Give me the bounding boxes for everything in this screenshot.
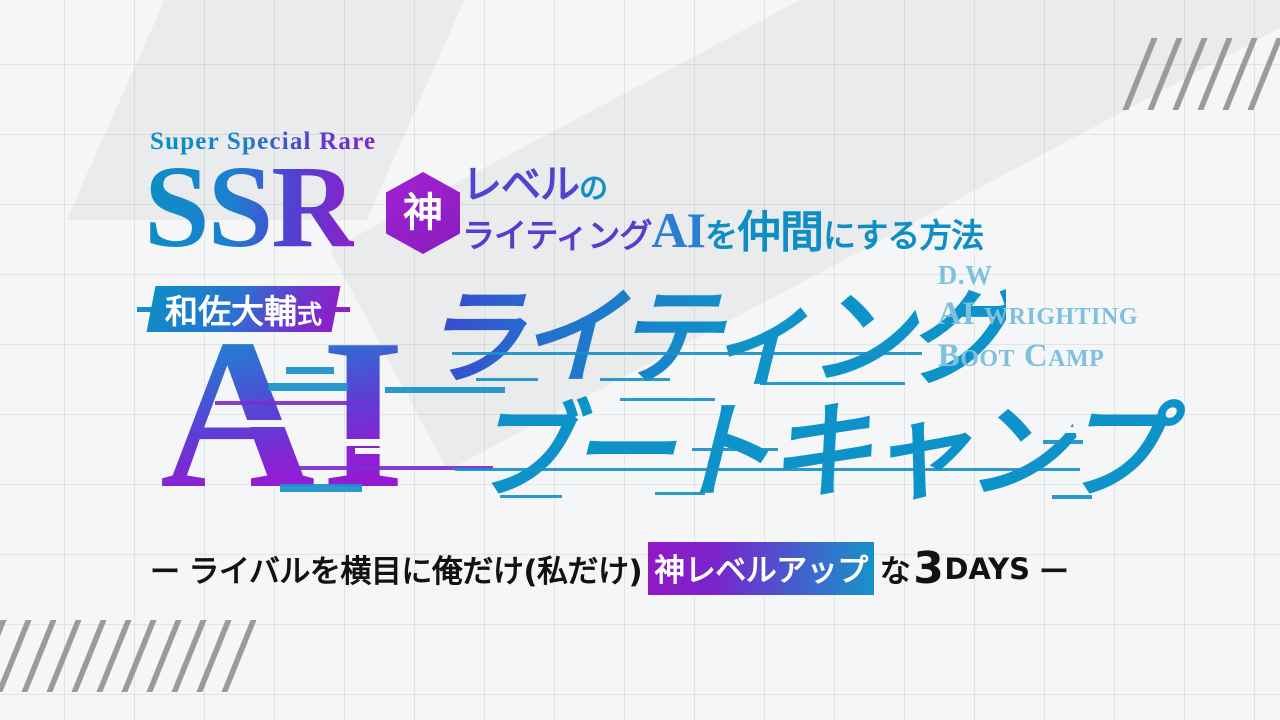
poster-canvas: Super Special Rare SSR 神 レベルの ライティングAIを仲… <box>0 0 1280 720</box>
dw-row-3-amp: AMP <box>1048 346 1104 372</box>
brush-headline-line-1: ライティング <box>420 286 1006 391</box>
kami-hexagon-badge: 神 <box>386 172 460 254</box>
tagline-part-2: な <box>880 546 911 591</box>
tagline-day-count: 3 <box>913 549 943 589</box>
dw-bootcamp-lockup: D.W AI WRIGHTING BOOT CAMP <box>938 258 1138 377</box>
scan-line <box>476 378 538 381</box>
glitch-line <box>330 439 400 446</box>
glitch-line <box>286 367 334 374</box>
dw-row-3-oot: OOT <box>960 346 1015 372</box>
scan-line <box>1052 495 1092 499</box>
glitch-line <box>215 401 365 405</box>
giant-ai-letters: AI <box>160 330 411 498</box>
lead-line-2-method: にする方法 <box>823 216 983 255</box>
scan-line <box>655 492 705 495</box>
scan-line <box>760 382 905 385</box>
scan-line <box>600 378 670 381</box>
lead-line-2-ai: AI <box>651 202 705 258</box>
scan-line <box>455 468 1080 471</box>
dw-row-3-b: B <box>938 338 961 374</box>
brush-headline-line-2: ブートキャンプ <box>470 400 1160 505</box>
decorative-stripes-bottom-left <box>0 620 242 692</box>
lead-line-2-wo: を <box>705 216 737 255</box>
glitch-line <box>280 484 362 492</box>
scan-line <box>692 448 778 451</box>
tagline-days-label: DAYS <box>944 552 1030 586</box>
bottom-tagline: ー ライバルを横目に俺だけ(私だけ) 神レベルアップ な 3 DAYS ー <box>150 542 1068 595</box>
tagline-dash-left: ー <box>150 547 180 591</box>
scan-line <box>452 352 922 355</box>
dw-row-2: AI WRIGHTING <box>938 293 1138 335</box>
lead-line-2-writing: ライティング <box>462 216 651 255</box>
dw-row-3-c: C <box>1024 338 1048 374</box>
tagline-dash-right: ー <box>1039 547 1069 591</box>
glitch-line <box>245 420 295 427</box>
dw-row-1: D.W <box>938 258 1138 293</box>
glitch-line <box>268 383 348 391</box>
lead-line-2: ライティングAIを仲間にする方法 <box>462 196 983 260</box>
scan-line <box>500 495 562 498</box>
decorative-stripes-top-right <box>1137 38 1268 110</box>
scan-line <box>1062 427 1094 433</box>
hexagon-badge-label: 神 <box>386 172 460 254</box>
dw-row-3: BOOT CAMP <box>938 335 1138 377</box>
tagline-part-1: ライバルを横目に俺だけ(私だけ) <box>189 546 643 591</box>
scan-line <box>1043 440 1083 444</box>
rank-initials: SSR <box>144 148 354 266</box>
tagline-highlight: 神レベルアップ <box>648 542 874 595</box>
glitch-line <box>355 448 395 454</box>
dw-row-2-ai: AI <box>938 296 976 332</box>
dw-row-2-wrighting: WRIGHTING <box>984 304 1138 330</box>
lead-line-2-nakama: 仲間 <box>737 207 823 258</box>
